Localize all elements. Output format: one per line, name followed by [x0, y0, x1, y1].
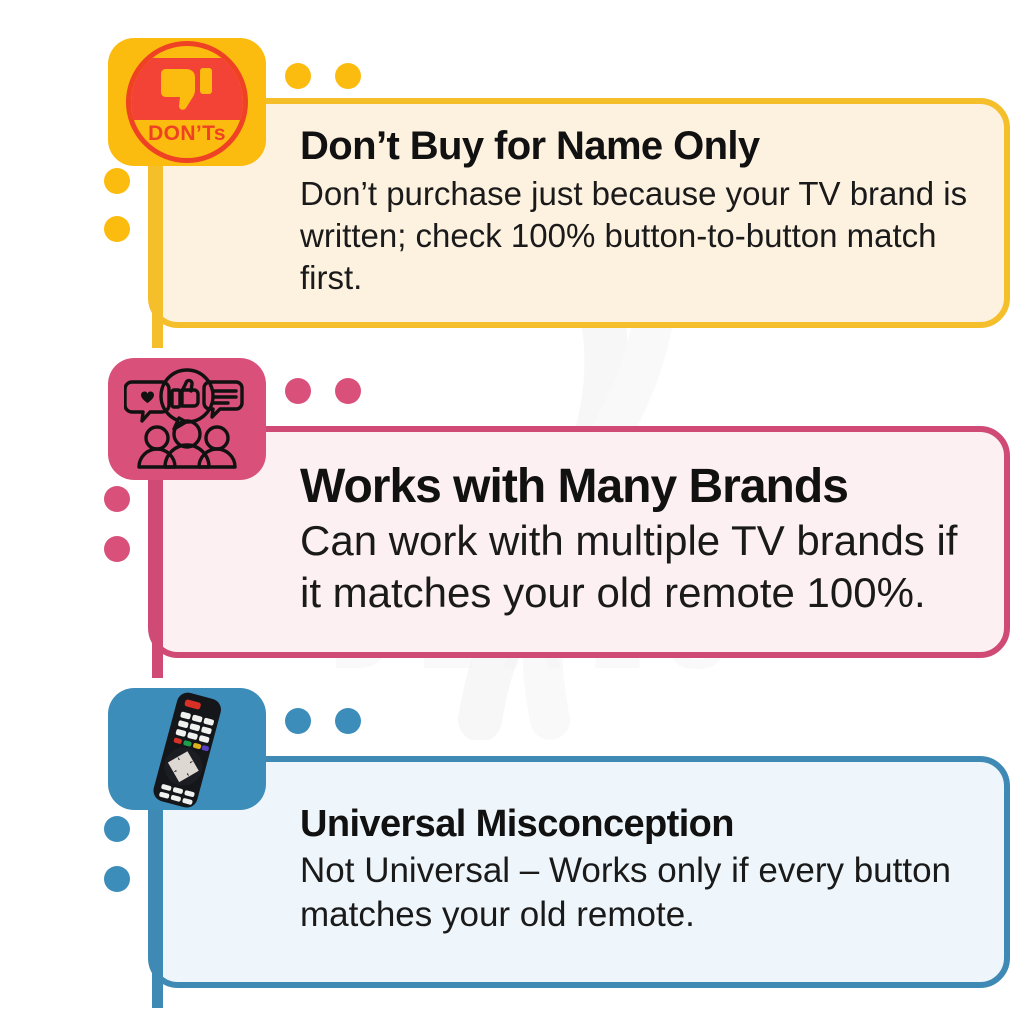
card-title-3: Universal Misconception [300, 805, 970, 845]
thumbs-down-icon [131, 58, 243, 120]
decorative-dot-top-b-3 [335, 708, 361, 734]
card-description-1: Don’t purchase just because your TV bran… [300, 173, 970, 300]
people-feedback-thumbs-up-icon [124, 366, 250, 472]
card-body-2: Works with Many Brands Can work with mul… [148, 426, 1010, 658]
decorative-dot-side-b-2 [104, 536, 130, 562]
card-description-2: Can work with multiple TV brands if it m… [300, 515, 970, 620]
decorative-dot-top-b-1 [335, 63, 361, 89]
donts-badge-label: DON’Ts [131, 122, 243, 146]
icon-tab-2 [108, 358, 266, 480]
decorative-dot-side-b-3 [104, 866, 130, 892]
decorative-dot-top-b-2 [335, 378, 361, 404]
donts-thumbs-down-badge-icon: DON’Ts [126, 41, 248, 163]
decorative-dot-top-a-2 [285, 378, 311, 404]
decorative-dot-top-a-1 [285, 63, 311, 89]
icon-tab-3 [108, 688, 266, 810]
decorative-dot-side-a-1 [104, 168, 130, 194]
card-body-1: Don’t Buy for Name Only Don’t purchase j… [148, 98, 1010, 328]
icon-tab-1: DON’Ts [108, 38, 266, 166]
decorative-dot-side-a-3 [104, 816, 130, 842]
card-description-3: Not Universal – Works only if every butt… [300, 849, 970, 937]
infographic-canvas: DEALS Don’t Buy for Name Only Don’t purc… [0, 0, 1024, 1024]
card-stem-3 [152, 778, 163, 1008]
card-title-2: Works with Many Brands [300, 462, 970, 512]
decorative-dot-top-a-3 [285, 708, 311, 734]
card-title-1: Don’t Buy for Name Only [300, 125, 970, 167]
card-body-3: Universal Misconception Not Universal – … [148, 756, 1010, 988]
decorative-dot-side-a-2 [104, 486, 130, 512]
decorative-dot-side-b-1 [104, 216, 130, 242]
tv-remote-control-icon [127, 690, 247, 808]
card-stem-2 [152, 448, 163, 678]
